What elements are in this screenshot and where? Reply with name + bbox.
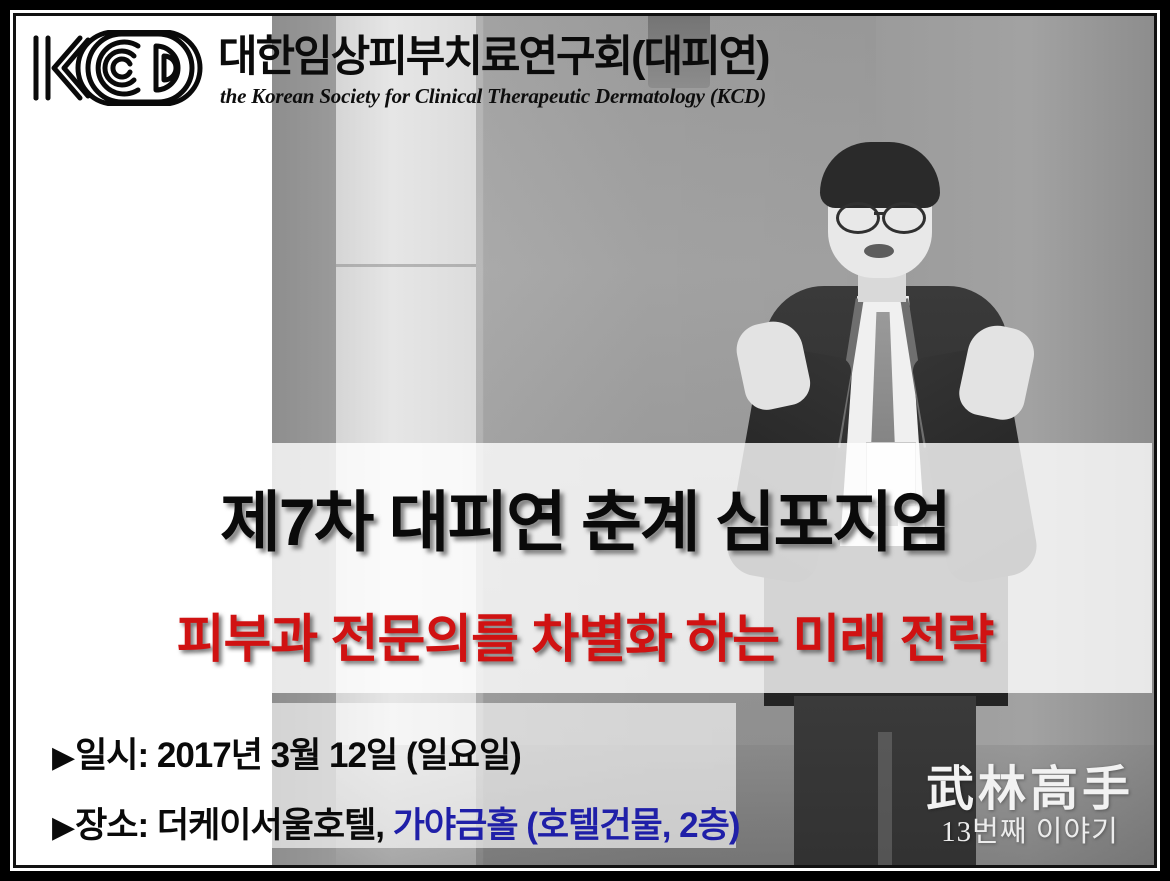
event-date-line: ▶일시: 2017년 3월 12일 (일요일)	[52, 738, 521, 773]
poster-header: 대한임상피부치료연구회(대피연) the Korean Society for …	[16, 16, 1154, 127]
venue-hotel-name: 더케이서울호텔,	[157, 806, 384, 845]
event-subtitle: 피부과 전문의를 차별화 하는 미래 전략	[16, 612, 1154, 669]
bullet-triangle-icon: ▶	[52, 741, 75, 774]
poster-root: 대한임상피부치료연구회(대피연) the Korean Society for …	[0, 0, 1170, 881]
speaker-legs-gap	[878, 732, 892, 865]
date-label: 일시:	[75, 736, 148, 775]
speaker-hair	[820, 142, 940, 208]
speaker-eyeglass-right	[882, 202, 926, 234]
watermark-subtitle: 13번째 이야기	[926, 818, 1134, 847]
poster-stage: 대한임상피부치료연구회(대피연) the Korean Society for …	[16, 16, 1154, 865]
date-value: 2017년 3월 12일 (일요일)	[157, 736, 521, 775]
event-venue-line: ▶장소: 더케이서울호텔, 가야금홀 (호텔건물, 2층)	[52, 808, 739, 843]
kcd-monogram-logo	[26, 30, 208, 106]
watermark-hanja: 武林高手	[926, 766, 1134, 814]
place-label: 장소:	[75, 806, 148, 845]
photo-pillar-seam	[336, 264, 476, 267]
speaker-eyeglass-left	[836, 202, 880, 234]
organization-name-korean: 대한임상피부치료연구회(대피연)	[218, 36, 768, 79]
organization-name-english: the Korean Society for Clinical Therapeu…	[220, 86, 766, 107]
speaker-mouth	[864, 244, 894, 258]
speaker-eyeglass-bridge	[874, 212, 884, 215]
event-title: 제7차 대피연 춘계 심포지엄	[16, 486, 1154, 559]
bullet-triangle-icon: ▶	[52, 811, 75, 844]
venue-hall-name: 가야금홀 (호텔건물, 2층)	[393, 806, 740, 845]
event-subtitle-text: 피부과 전문의를 차별화 하는 미래 전략	[177, 611, 994, 669]
series-watermark: 武林高手 13번째 이야기	[926, 766, 1134, 847]
